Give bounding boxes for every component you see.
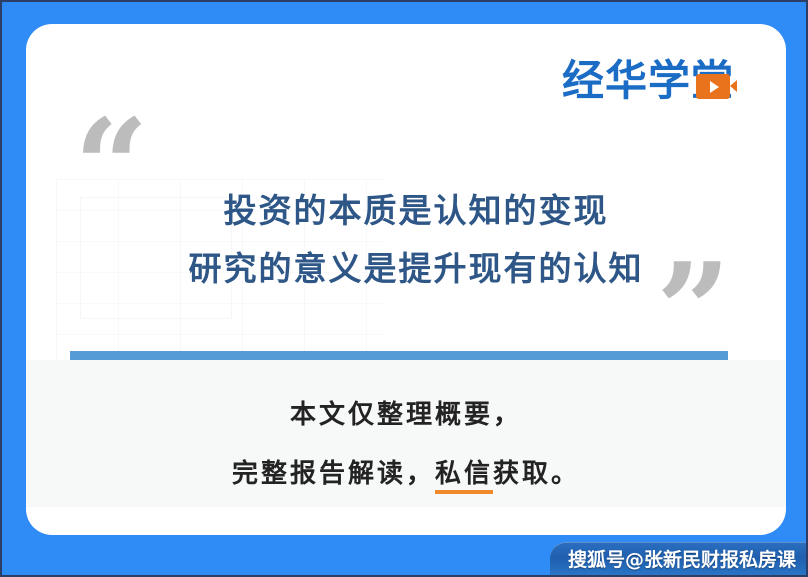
note-line-2-after: 获取。 (493, 459, 580, 489)
quote-line-1: 投资的本质是认知的变现 (96, 182, 736, 240)
note-line-1: 本文仅整理概要， (26, 386, 786, 445)
brand-logo: 经华学堂 (562, 60, 734, 102)
source-watermark-banner: 搜狐号@张新民财报私房课 (550, 542, 806, 575)
video-camera-badge-icon (696, 74, 730, 99)
content-card: 经华学堂 “ ” 投资的本质是认知的变现 研究的意义是提升现有的认知 本文仅整理… (26, 24, 786, 535)
section-divider (70, 351, 728, 360)
note-panel: 本文仅整理概要， 完整报告解读，私信获取。 (26, 360, 786, 507)
source-watermark-text: 搜狐号@张新民财报私房课 (568, 545, 796, 572)
quote-block: 投资的本质是认知的变现 研究的意义是提升现有的认知 (96, 182, 736, 298)
quote-line-2: 研究的意义是提升现有的认知 (96, 240, 736, 298)
note-text-group: 本文仅整理概要， 完整报告解读，私信获取。 (26, 386, 786, 503)
note-line-2-before: 完整报告解读， (232, 459, 435, 489)
slide-screen: 经华学堂 “ ” 投资的本质是认知的变现 研究的意义是提升现有的认知 本文仅整理… (0, 0, 808, 577)
note-highlight-private-message: 私信 (435, 459, 493, 494)
note-line-2: 完整报告解读，私信获取。 (26, 445, 786, 504)
